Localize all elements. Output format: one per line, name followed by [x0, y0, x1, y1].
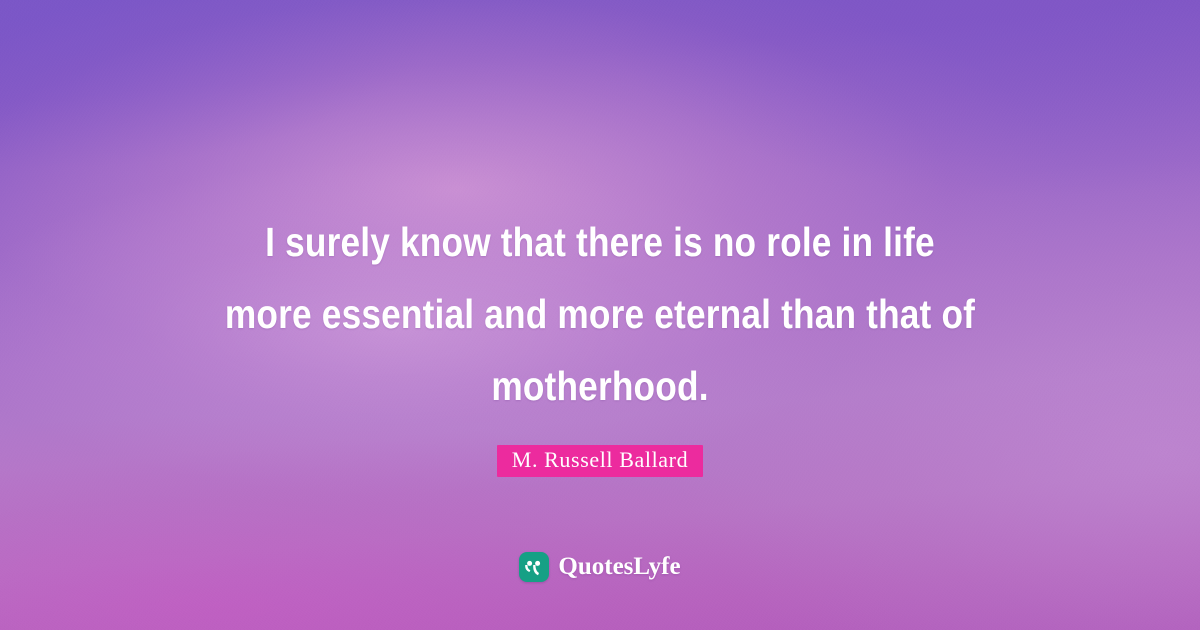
brand-name-text: QuotesLyfe: [558, 554, 680, 580]
card-content: I surely know that there is no role in l…: [0, 0, 1200, 630]
author-name-badge: M. Russell Ballard: [497, 445, 703, 477]
author-attribution: M. Russell Ballard: [0, 445, 1200, 477]
quote-line-1: I surely know that there is no role in l…: [179, 206, 1022, 278]
quote-card: I surely know that there is no role in l…: [0, 0, 1200, 630]
quote-mark-icon: [519, 552, 549, 582]
quote-line-2: more essential and more eternal than tha…: [179, 278, 1022, 350]
quote-line-3: motherhood.: [179, 350, 1022, 422]
quote-text: I surely know that there is no role in l…: [0, 206, 1200, 422]
brand-logo: QuotesLyfe: [0, 552, 1200, 582]
